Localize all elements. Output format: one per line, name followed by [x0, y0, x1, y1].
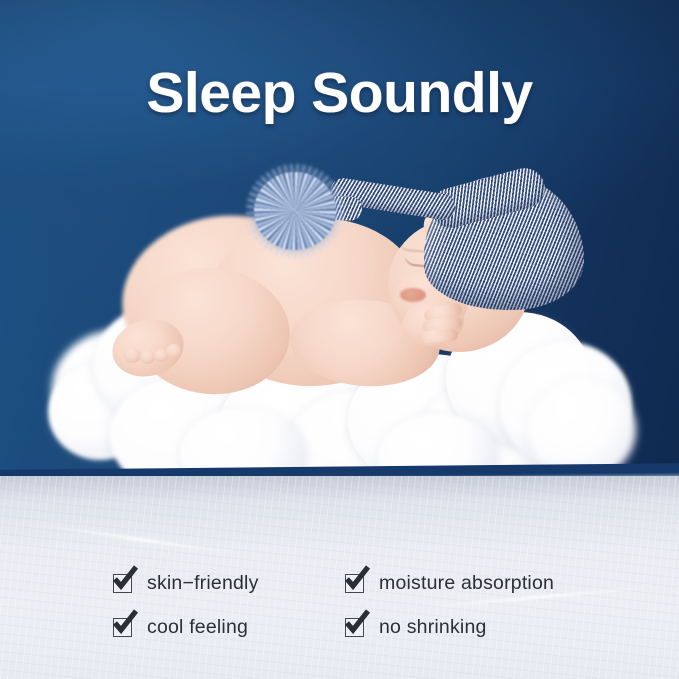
sleeping-baby-photo — [0, 0, 679, 484]
check-mark-icon — [112, 610, 138, 636]
feature-label: no shrinking — [379, 616, 487, 638]
check-mark-icon — [344, 610, 370, 636]
product-poster: Sleep Soundly — [0, 0, 679, 679]
checkbox-checked-icon — [113, 618, 132, 637]
checkbox-checked-icon — [345, 574, 364, 593]
baby-toe — [166, 344, 181, 359]
check-mark-icon — [344, 566, 370, 592]
hat-pompom-fuzz — [246, 164, 344, 258]
feature-label: cool feeling — [147, 616, 248, 638]
feature-item-cool-feeling: cool feeling — [113, 616, 248, 638]
feature-item-moisture-absorption: moisture absorption — [345, 572, 554, 594]
feature-label: skin−friendly — [147, 572, 259, 594]
baby-toe — [140, 350, 155, 364]
checkbox-checked-icon — [113, 574, 132, 593]
check-mark-icon — [112, 566, 138, 592]
checkbox-checked-icon — [345, 618, 364, 637]
feature-item-skin-friendly: skin−friendly — [113, 572, 259, 594]
baby-lips — [400, 288, 426, 302]
baby-toe — [124, 348, 141, 363]
feature-label: moisture absorption — [379, 572, 554, 594]
feature-item-no-shrinking: no shrinking — [345, 616, 487, 638]
feature-checklist: skin−friendly moisture absorption cool f… — [0, 556, 679, 656]
